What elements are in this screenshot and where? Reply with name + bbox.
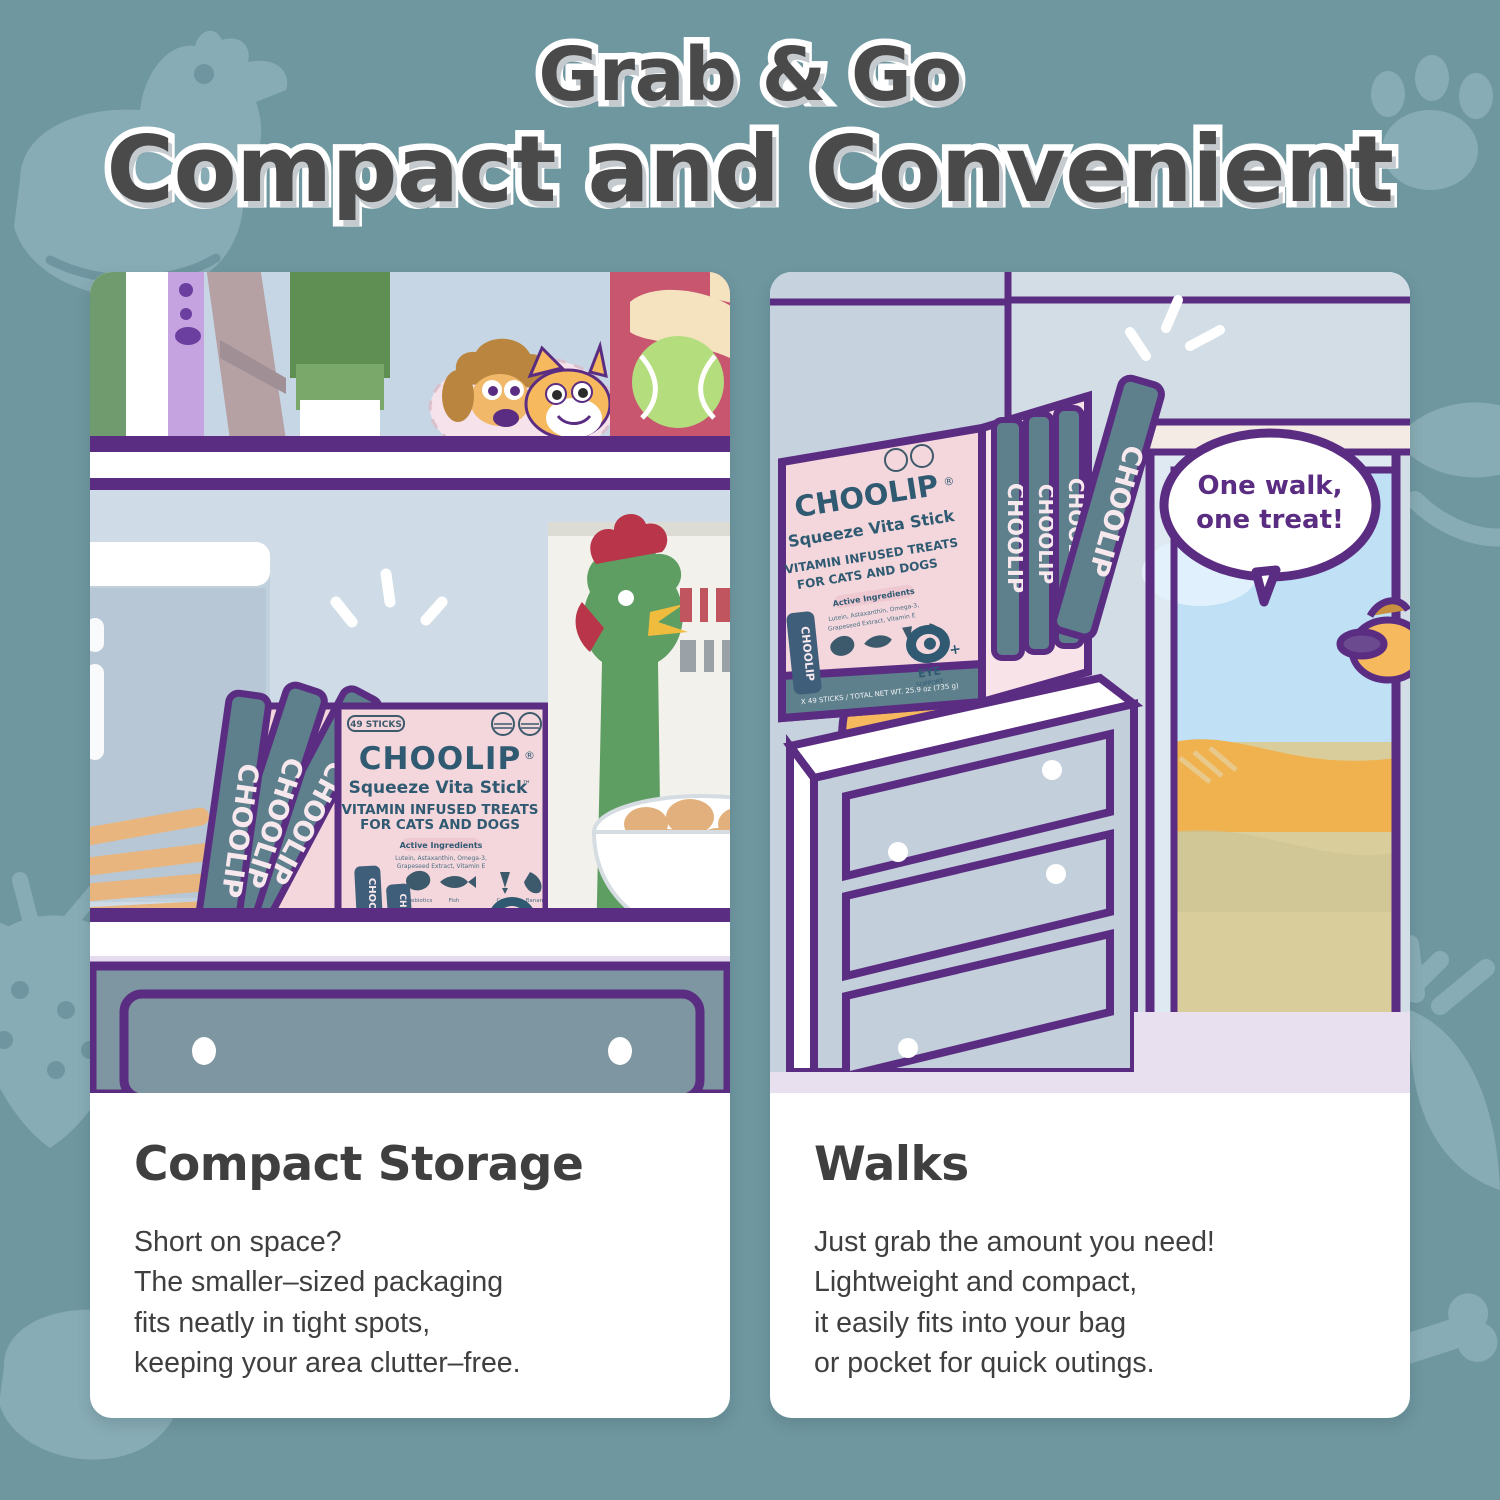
- green-container-top: [290, 272, 390, 378]
- product-tagline-1: VITAMIN INFUSED TREATS: [341, 802, 538, 818]
- dresser-knob-1: [888, 842, 908, 862]
- card-body-walks: Just grab the amount you need! Lightweig…: [814, 1222, 1366, 1384]
- speech-line1: One walk,: [1198, 471, 1343, 501]
- svg-text:Fish: Fish: [449, 898, 460, 904]
- page-title-line1: Grab & Go: [0, 38, 1500, 112]
- fish-silhouette-icon: [1395, 400, 1500, 537]
- dresser-three-drawers: [790, 678, 1134, 1076]
- card-heading-walks: Walks: [814, 1137, 1366, 1192]
- dresser-knob-2: [1042, 760, 1062, 780]
- svg-text:™: ™: [522, 780, 531, 790]
- shelf-divider-line: [90, 436, 730, 452]
- cabinet-shelf-scene: CHOOLIP CHOOLIP CHOOLIP: [90, 272, 730, 1093]
- doorway-walk-scene: One walk, one treat!: [770, 272, 1410, 1093]
- product-tagline-2: FOR CATS AND DOGS: [360, 817, 520, 833]
- book-green-1: [90, 272, 126, 440]
- counter-top: [90, 922, 730, 956]
- feature-card-walks: One walk, one treat!: [770, 272, 1410, 1418]
- product-brand-mark: ®: [524, 749, 535, 762]
- book-white: [126, 272, 168, 440]
- svg-text:Active Ingredients: Active Ingredients: [400, 841, 483, 850]
- card-text-panel-compact-storage: Compact Storage Short on space? The smal…: [90, 1093, 730, 1384]
- drawer-knob-right: [608, 1037, 632, 1065]
- counter-edge-line: [90, 908, 730, 922]
- dresser-side: [790, 746, 814, 1072]
- white-tube: [300, 400, 380, 442]
- product-brand: CHOOLIP: [359, 741, 521, 777]
- card-heading-compact-storage: Compact Storage: [134, 1137, 686, 1192]
- book-dot-2: [180, 308, 192, 320]
- shelf-board-top: [90, 452, 730, 478]
- speech-line2: one treat!: [1196, 505, 1344, 535]
- dresser-knob-4: [898, 1038, 918, 1058]
- svg-text:®: ®: [942, 474, 955, 489]
- feature-card-compact-storage: CHOOLIP CHOOLIP CHOOLIP: [90, 272, 730, 1418]
- svg-text:49 STICKS: 49 STICKS: [350, 720, 402, 730]
- carrot-silhouette-icon: [1400, 944, 1500, 1190]
- svg-text:Grapeseed Extract, Vitamin E: Grapeseed Extract, Vitamin E: [397, 863, 486, 870]
- page-title-line2: Compact and Convenient: [0, 124, 1500, 216]
- card-body-compact-storage: Short on space? The smaller–sized packag…: [134, 1222, 686, 1384]
- card-text-panel-walks: Walks Just grab the amount you need! Lig…: [770, 1093, 1410, 1384]
- drawer-knob-left: [192, 1037, 216, 1065]
- book-purple: [168, 272, 204, 440]
- svg-text:Lutein, Astaxanthin, Omega-3,: Lutein, Astaxanthin, Omega-3,: [395, 855, 487, 862]
- dresser-knob-3: [1046, 864, 1066, 884]
- page-title: Grab & Go Compact and Convenient: [0, 38, 1500, 216]
- svg-text:+: +: [948, 641, 962, 659]
- cereal-box-text-bars: [680, 588, 730, 622]
- book-dot-1: [179, 283, 193, 297]
- book-dot-3: [175, 327, 201, 345]
- product-subtitle: Squeeze Vita Stick: [349, 778, 528, 798]
